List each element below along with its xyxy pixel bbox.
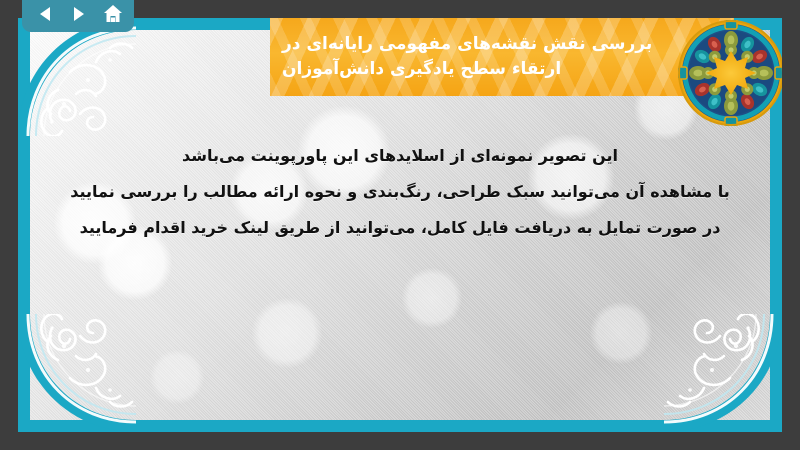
home-button[interactable] bbox=[100, 1, 126, 27]
title-line-1: بررسی نقش نقشه‌های مفهومی رایانه‌ای در bbox=[282, 32, 652, 57]
next-slide-button[interactable] bbox=[66, 1, 92, 27]
bokeh-circle bbox=[150, 350, 204, 404]
home-icon bbox=[102, 3, 124, 25]
triangle-left-icon bbox=[35, 4, 55, 24]
slide-title: بررسی نقش نقشه‌های مفهومی رایانه‌ای در ا… bbox=[270, 18, 734, 96]
slide-body-text: این تصویر نمونه‌ای از اسلایدهای این پاور… bbox=[54, 138, 746, 246]
body-line-3: در صورت تمایل به دریافت فایل کامل، می‌تو… bbox=[54, 210, 746, 246]
slide-navigation-bar bbox=[22, 0, 134, 32]
bokeh-circle bbox=[252, 298, 322, 368]
slide-frame: این تصویر نمونه‌ای از اسلایدهای این پاور… bbox=[18, 18, 782, 432]
body-line-2: با مشاهده آن می‌توانید سبک طراحی، رنگ‌بن… bbox=[54, 174, 746, 210]
body-line-1: این تصویر نمونه‌ای از اسلایدهای این پاور… bbox=[54, 138, 746, 174]
title-line-2: ارتقاء سطح یادگیری دانش‌آموزان bbox=[282, 57, 561, 82]
bokeh-circle bbox=[402, 268, 462, 328]
persian-medallion-ornament bbox=[678, 20, 782, 126]
slide-viewer: این تصویر نمونه‌ای از اسلایدهای این پاور… bbox=[0, 0, 800, 450]
previous-slide-button[interactable] bbox=[32, 1, 58, 27]
triangle-right-icon bbox=[69, 4, 89, 24]
title-banner: بررسی نقش نقشه‌های مفهومی رایانه‌ای در ا… bbox=[270, 18, 734, 96]
bokeh-circle bbox=[590, 302, 652, 364]
